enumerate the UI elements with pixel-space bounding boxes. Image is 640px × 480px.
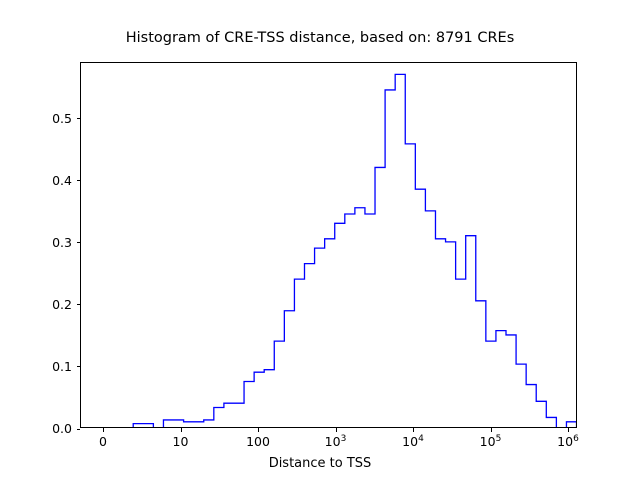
x-axis-label: Distance to TSS [0,456,640,471]
x-tick-label: 105 [451,434,531,449]
histogram-step-line [81,63,576,427]
plot-area [80,62,577,428]
y-tick-label: 0.2 [12,297,72,312]
x-tick-label: 103 [296,434,376,449]
y-tick-label: 0.3 [12,235,72,250]
x-tick-mark [103,428,104,432]
x-tick-mark [568,428,569,432]
matplotlib-figure: Histogram of CRE-TSS distance, based on:… [0,0,640,480]
x-tick-mark [336,428,337,432]
x-tick-mark [491,428,492,432]
y-tick-mark [77,429,81,430]
x-tick-label: 106 [528,434,608,449]
x-tick-mark [181,428,182,432]
y-tick-label: 0.4 [12,173,72,188]
x-tick-label: 104 [373,434,453,449]
x-tick-mark [258,428,259,432]
chart-title: Histogram of CRE-TSS distance, based on:… [0,30,640,46]
x-tick-label: 10 [141,434,221,449]
x-tick-label: 100 [218,434,298,449]
y-tick-label: 0.5 [12,111,72,126]
histogram-outline [103,74,576,427]
x-tick-mark [413,428,414,432]
y-tick-label: 0.1 [12,359,72,374]
x-tick-label: 0 [63,434,143,449]
